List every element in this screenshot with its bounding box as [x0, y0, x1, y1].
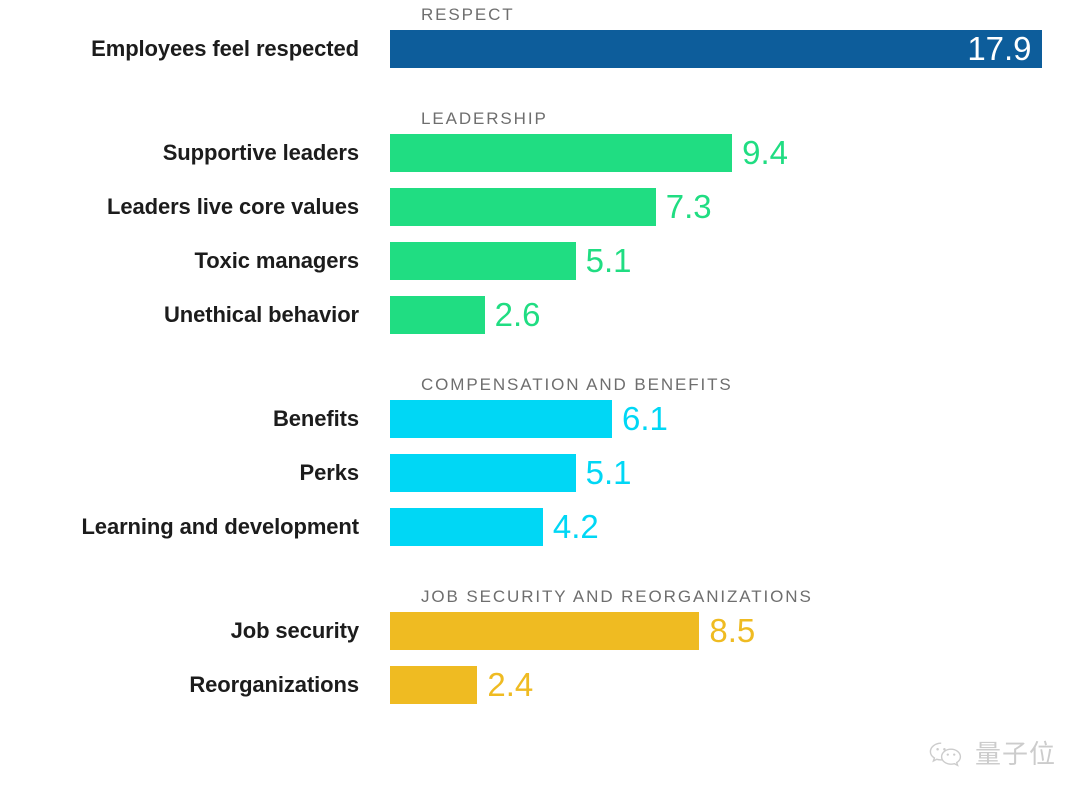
bar-track: 8.5	[390, 612, 1080, 650]
chart-section: JOB SECURITY AND REORGANIZATIONSJob secu…	[0, 582, 1080, 704]
section-spacer	[0, 84, 1080, 104]
bar-row: Benefits6.1	[0, 400, 1080, 438]
bar-category-label: Leaders live core values	[0, 188, 390, 226]
chart-section: COMPENSATION AND BENEFITSBenefits6.1Perk…	[0, 370, 1080, 546]
bar-chart: RESPECTEmployees feel respected17.9LEADE…	[0, 0, 1080, 796]
bar-track: 9.4	[390, 134, 1080, 172]
section-spacer	[0, 350, 1080, 370]
bar-track: 6.1	[390, 400, 1080, 438]
bar-value-label: 8.5	[699, 612, 755, 650]
bar-value-label: 2.4	[477, 666, 533, 704]
bar-row: Perks5.1	[0, 454, 1080, 492]
bar-row: Job security8.5	[0, 612, 1080, 650]
section-header: LEADERSHIP	[421, 104, 1080, 134]
bar-category-label: Toxic managers	[0, 242, 390, 280]
bar-track: 4.2	[390, 508, 1080, 546]
bar-row: Reorganizations2.4	[0, 666, 1080, 704]
bar-row: Supportive leaders9.4	[0, 134, 1080, 172]
bar: 17.9	[390, 30, 1042, 68]
bar-row: Employees feel respected17.9	[0, 30, 1080, 68]
bar	[390, 666, 477, 704]
bar	[390, 400, 612, 438]
section-header: JOB SECURITY AND REORGANIZATIONS	[421, 582, 1080, 612]
bar-category-label: Unethical behavior	[0, 296, 390, 334]
bar-category-label: Reorganizations	[0, 666, 390, 704]
bar-track: 7.3	[390, 188, 1080, 226]
bar	[390, 612, 699, 650]
bar-track: 5.1	[390, 454, 1080, 492]
bar	[390, 134, 732, 172]
bar-value-label: 9.4	[732, 134, 788, 172]
bar-value-label: 4.2	[543, 508, 599, 546]
bar-track: 5.1	[390, 242, 1080, 280]
section-header: RESPECT	[421, 0, 1080, 30]
bar-value-label: 2.6	[485, 296, 541, 334]
bar-category-label: Perks	[0, 454, 390, 492]
bar-category-label: Benefits	[0, 400, 390, 438]
bar	[390, 508, 543, 546]
bar-category-label: Learning and development	[0, 508, 390, 546]
bar-row: Leaders live core values7.3	[0, 188, 1080, 226]
bar-track: 2.6	[390, 296, 1080, 334]
bar	[390, 242, 576, 280]
bar-value-label: 6.1	[612, 400, 668, 438]
chart-section: LEADERSHIPSupportive leaders9.4Leaders l…	[0, 104, 1080, 334]
bar	[390, 188, 656, 226]
bar-value-label: 5.1	[576, 454, 632, 492]
bar-row: Unethical behavior2.6	[0, 296, 1080, 334]
bar-value-label: 17.9	[967, 30, 1041, 68]
bar-category-label: Job security	[0, 612, 390, 650]
bar-category-label: Employees feel respected	[0, 30, 390, 68]
section-header: COMPENSATION AND BENEFITS	[421, 370, 1080, 400]
bar-row: Learning and development4.2	[0, 508, 1080, 546]
bar	[390, 296, 485, 334]
section-spacer	[0, 562, 1080, 582]
bar-row: Toxic managers5.1	[0, 242, 1080, 280]
bar-value-label: 5.1	[576, 242, 632, 280]
bar-category-label: Supportive leaders	[0, 134, 390, 172]
bar	[390, 454, 576, 492]
bar-track: 2.4	[390, 666, 1080, 704]
bar-value-label: 7.3	[656, 188, 712, 226]
chart-section: RESPECTEmployees feel respected17.9	[0, 0, 1080, 68]
bar-track: 17.9	[390, 30, 1080, 68]
